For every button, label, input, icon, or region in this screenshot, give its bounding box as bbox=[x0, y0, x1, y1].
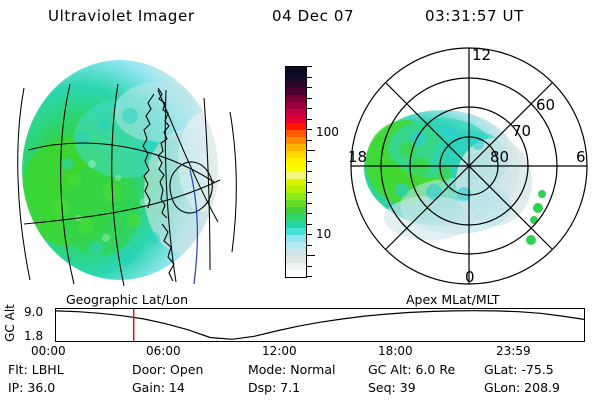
colorbar-tick bbox=[307, 140, 312, 141]
orbit-x-tick: 00:00 bbox=[31, 344, 66, 358]
mlt-label-18: 18 bbox=[348, 148, 367, 166]
mlt-label-0: 0 bbox=[465, 268, 475, 286]
colorbar-tick bbox=[307, 255, 315, 256]
colorbar-tick bbox=[307, 129, 312, 130]
colorbar-segment bbox=[286, 256, 306, 263]
colorbar-segment bbox=[286, 74, 306, 81]
colorbar-label-100: 100 bbox=[316, 125, 339, 139]
orbit-x-tick: 18:00 bbox=[378, 344, 413, 358]
status-field-ip: IP: 36.0 bbox=[8, 380, 55, 395]
colorbar-tick bbox=[307, 224, 312, 225]
status-field-gc-alt: GC Alt: 6.0 Re bbox=[368, 362, 455, 377]
status-field-glat: GLat: -75.5 bbox=[484, 362, 554, 377]
colorbar-tick bbox=[307, 77, 312, 78]
status-field-gain: Gain: 14 bbox=[132, 380, 185, 395]
colorbar-tick bbox=[307, 203, 312, 204]
colorbar-tick bbox=[307, 171, 312, 172]
colorbar-segment bbox=[286, 179, 306, 186]
colorbar-segment bbox=[286, 151, 306, 158]
colorbar-gradient bbox=[285, 66, 307, 278]
orbit-plot-area bbox=[55, 308, 585, 342]
colorbar-tick bbox=[307, 161, 312, 162]
colorbar-segment bbox=[286, 102, 306, 109]
orbit-y-tick-high: 9.0 bbox=[24, 305, 43, 319]
colorbar-tick bbox=[307, 87, 312, 88]
colorbar-segment bbox=[286, 193, 306, 200]
orbit-x-tick: 12:00 bbox=[262, 344, 297, 358]
mlat-label-80: 80 bbox=[490, 148, 509, 166]
mlt-spokes bbox=[351, 48, 587, 284]
colorbar-segment bbox=[286, 221, 306, 228]
orbit-x-tick: 23:59 bbox=[496, 344, 531, 358]
colorbar-segment bbox=[286, 130, 306, 137]
colorbar-tick bbox=[307, 108, 312, 109]
mlat-label-60: 60 bbox=[536, 96, 555, 114]
ultraviolet-imager-window: { "header": { "title": "Ultraviolet Imag… bbox=[0, 0, 600, 400]
page-title: Ultraviolet Imager bbox=[48, 7, 195, 25]
colorbar-tick bbox=[307, 245, 312, 246]
globe-image bbox=[8, 42, 252, 290]
colorbar-segment bbox=[286, 235, 306, 242]
colorbar-ticks bbox=[307, 66, 315, 278]
status-field-flt: Flt: LBHL bbox=[8, 362, 64, 377]
header-bar: Ultraviolet Imager 04 Dec 07 03:31:57 UT bbox=[0, 4, 600, 30]
status-field-dsp: Dsp: 7.1 bbox=[248, 380, 300, 395]
status-readout: Flt: LBHLDoor: OpenMode: NormalGC Alt: 6… bbox=[0, 362, 600, 400]
colorbar-segment bbox=[286, 207, 306, 214]
mlat-label-70: 70 bbox=[512, 122, 531, 140]
observation-time: 03:31:57 UT bbox=[425, 7, 524, 25]
colorbar-segment bbox=[286, 109, 306, 116]
status-field-door: Door: Open bbox=[132, 362, 203, 377]
colorbar-segment bbox=[286, 95, 306, 102]
colorbar-tick bbox=[307, 150, 315, 151]
colorbar-tick bbox=[307, 66, 312, 67]
colorbar-label-10: 10 bbox=[316, 227, 331, 241]
colorbar-tick bbox=[307, 98, 312, 99]
colorbar-segment bbox=[286, 270, 306, 277]
status-field-mode: Mode: Normal bbox=[248, 362, 335, 377]
orbit-y-axis-label: GC Alt bbox=[3, 297, 17, 349]
apex-polar-panel[interactable]: 12 6 0 18 60 70 80 bbox=[344, 42, 594, 290]
colorbar-segment bbox=[286, 172, 306, 179]
colorbar-tick bbox=[307, 266, 312, 267]
colorbar-segment bbox=[286, 165, 306, 172]
colorbar-segment bbox=[286, 263, 306, 270]
colorbar-panel: photon cm-2s-1 100 10 bbox=[256, 50, 342, 290]
colorbar-segment bbox=[286, 144, 306, 151]
colorbar-segment bbox=[286, 116, 306, 123]
colorbar-tick bbox=[307, 276, 312, 277]
colorbar-segment bbox=[286, 186, 306, 193]
colorbar-tick bbox=[307, 213, 312, 214]
colorbar-segment bbox=[286, 249, 306, 256]
colorbar-segment bbox=[286, 228, 306, 235]
orbit-altitude-chart[interactable]: GC Alt 9.0 1.8 00:0006:0012:0018:0023:59 bbox=[0, 304, 600, 346]
colorbar-segment bbox=[286, 158, 306, 165]
orbit-x-axis: 00:0006:0012:0018:0023:59 bbox=[0, 344, 600, 360]
polar-plot-svg: 12 6 0 18 60 70 80 bbox=[344, 42, 594, 290]
colorbar-tick bbox=[307, 234, 312, 235]
observation-date: 04 Dec 07 bbox=[272, 7, 354, 25]
status-field-seq: Seq: 39 bbox=[368, 380, 416, 395]
colorbar-segment bbox=[286, 67, 306, 74]
colorbar-segment bbox=[286, 242, 306, 249]
colorbar-tick bbox=[307, 119, 312, 120]
colorbar-segment bbox=[286, 214, 306, 221]
mlt-label-12: 12 bbox=[472, 46, 491, 64]
geographic-globe-panel[interactable] bbox=[8, 42, 252, 290]
globe-svg bbox=[8, 42, 252, 290]
colorbar-segment bbox=[286, 200, 306, 207]
orbit-y-tick-low: 1.8 bbox=[24, 329, 43, 343]
colorbar-segment bbox=[286, 137, 306, 144]
status-field-glon: GLon: 208.9 bbox=[484, 380, 560, 395]
colorbar-tick bbox=[307, 182, 312, 183]
orbit-x-tick: 06:00 bbox=[146, 344, 181, 358]
mlt-label-6: 6 bbox=[576, 148, 586, 166]
colorbar-segment bbox=[286, 88, 306, 95]
colorbar-segment bbox=[286, 81, 306, 88]
colorbar-tick bbox=[307, 192, 312, 193]
colorbar-segment bbox=[286, 123, 306, 130]
orbit-curve-svg bbox=[56, 309, 584, 341]
